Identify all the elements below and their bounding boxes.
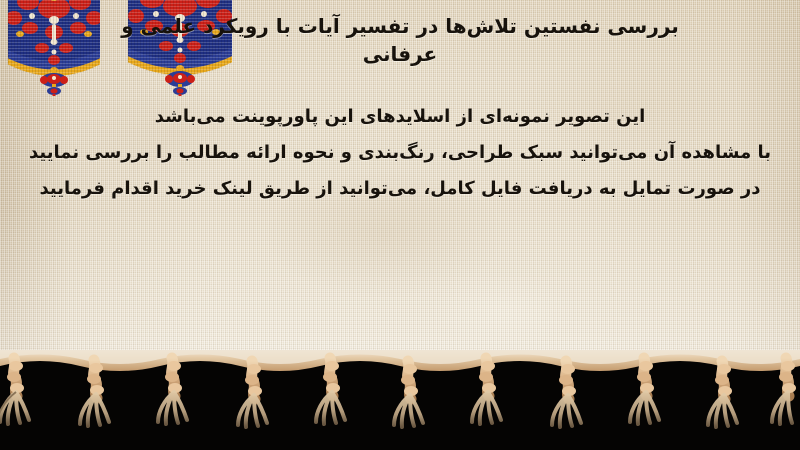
slide-title-line-1: بررسی نفستین تلاش‌ها در تفسیر آیات با رو… [20, 12, 780, 40]
page-title: بررسی نفستین تلاش‌ها در تفسیر آیات با رو… [20, 12, 780, 69]
body-line-3: در صورت تمایل به دریافت فایل کامل، می‌تو… [22, 180, 778, 198]
powerpoint-slide: بررسی نفستین تلاش‌ها در تفسیر آیات با رو… [0, 0, 800, 450]
body-line-1: این تصویر نمونه‌ای از اسلایدهای این پاور… [22, 108, 778, 126]
body-line-2: با مشاهده آن می‌توانید سبک طراحی، رنگ‌بن… [22, 144, 778, 162]
carpet-fringe-tassels [0, 350, 800, 450]
slide-body-text: این تصویر نمونه‌ای از اسلایدهای این پاور… [22, 108, 778, 198]
slide-title-line-2: عرفانی [20, 40, 780, 68]
